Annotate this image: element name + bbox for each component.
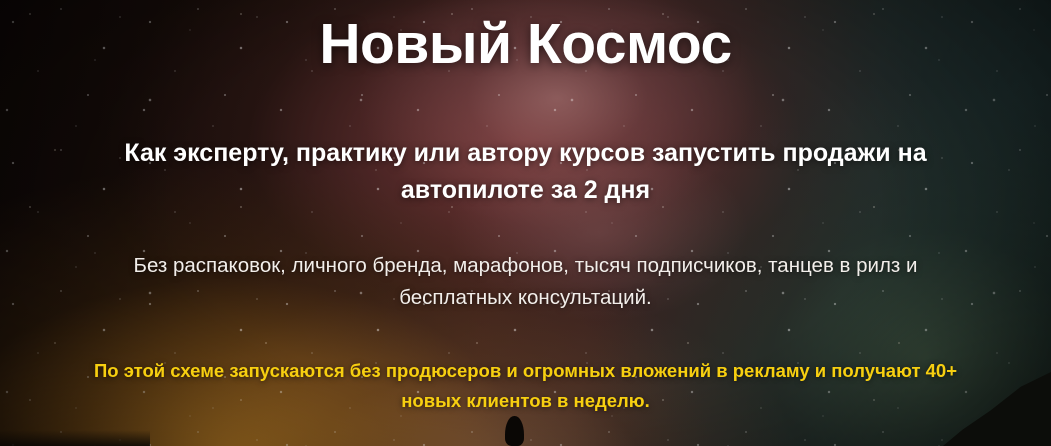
hero-body-text: Без распаковок, личного бренда, марафоно… bbox=[86, 250, 966, 314]
hero-content: Новый Космос Как эксперту, практику или … bbox=[0, 0, 1051, 446]
hero-banner: Новый Космос Как эксперту, практику или … bbox=[0, 0, 1051, 446]
page-title: Новый Космос bbox=[0, 13, 1051, 77]
hero-highlight-text: По этой схеме запускаются без продюсеров… bbox=[86, 356, 966, 416]
hero-subtitle: Как эксперту, практику или автору курсов… bbox=[76, 135, 976, 208]
